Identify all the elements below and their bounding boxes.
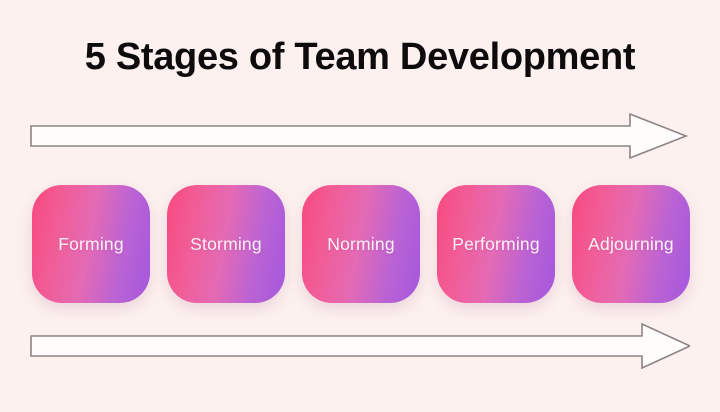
stages-row: Forming Storming Norming Performing Adjo… [32, 185, 690, 303]
stage-card-norming[interactable]: Norming [302, 185, 420, 303]
stage-card-forming[interactable]: Forming [32, 185, 150, 303]
infographic-canvas: 5 Stages of Team Development Forming Sto… [0, 0, 720, 412]
stage-card-label: Norming [327, 234, 395, 255]
stage-card-label: Performing [452, 234, 540, 255]
stage-card-storming[interactable]: Storming [167, 185, 285, 303]
page-title: 5 Stages of Team Development [0, 36, 720, 79]
progress-arrow-top [30, 108, 690, 164]
stage-card-label: Forming [58, 234, 124, 255]
arrow-right-icon [31, 114, 686, 158]
stage-card-label: Storming [190, 234, 262, 255]
progress-arrow-bottom [30, 318, 690, 374]
stage-card-adjourning[interactable]: Adjourning [572, 185, 690, 303]
stage-card-label: Adjourning [588, 234, 674, 255]
arrow-right-icon [31, 324, 690, 368]
stage-card-performing[interactable]: Performing [437, 185, 555, 303]
